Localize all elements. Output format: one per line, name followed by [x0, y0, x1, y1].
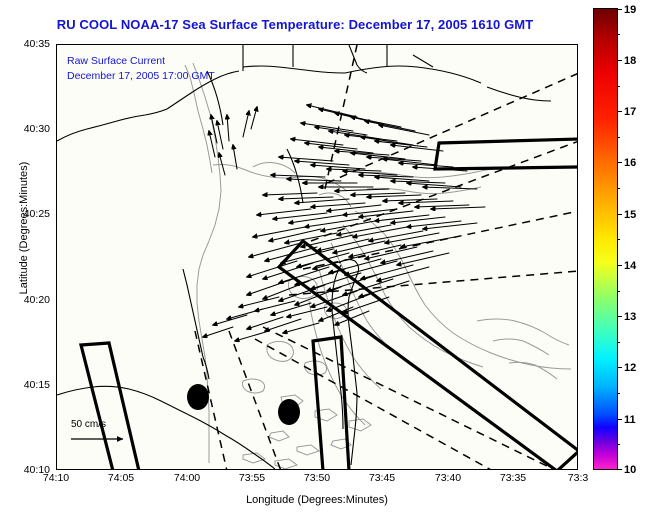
- colorbar-minor-tick: [617, 188, 620, 189]
- x-tick-label: 74:00: [174, 472, 200, 484]
- vector-scale-label: 50 cm/s: [67, 419, 137, 430]
- y-axis-label: Latitude (Degrees:Minutes): [18, 128, 30, 328]
- radar-coverage-wedges: [81, 139, 578, 470]
- colorbar-gradient: [594, 9, 617, 469]
- rightwards-arrow-icon: [67, 432, 137, 446]
- colorbar-minor-tick: [617, 239, 620, 240]
- x-tick-label: 73:55: [239, 472, 265, 484]
- vector-scale-legend: 50 cm/s: [67, 419, 137, 451]
- page-title: RU COOL NOAA-17 Sea Surface Temperature:…: [0, 17, 590, 32]
- site-marker-east: [278, 399, 300, 425]
- x-tick-label: 73:3: [568, 472, 588, 484]
- colorbar-tick-label: 14: [624, 260, 636, 272]
- y-tick-label: 40:30: [10, 123, 50, 135]
- colorbar-tick-label: 10: [624, 464, 636, 476]
- colorbar-minor-tick: [617, 137, 620, 138]
- colorbar-tick-label: 17: [624, 106, 636, 118]
- x-tick-label: 73:40: [435, 472, 461, 484]
- x-tick-label: 73:45: [369, 472, 395, 484]
- x-axis-label: Longitude (Degrees:Minutes): [56, 494, 578, 506]
- colorbar-minor-tick: [617, 342, 620, 343]
- colorbar-tick-label: 16: [624, 157, 636, 169]
- colorbar-tick: [617, 316, 622, 317]
- map-graphics: [57, 45, 578, 470]
- annotation-line-2: December 17, 2005 17:00 GMT: [67, 70, 215, 82]
- figure-canvas: RU COOL NOAA-17 Sea Surface Temperature:…: [0, 0, 651, 519]
- colorbar-tick-label: 13: [624, 311, 636, 323]
- colorbar-tick: [617, 111, 622, 112]
- x-tick-label: 73:35: [500, 472, 526, 484]
- colorbar-tick-label: 19: [624, 4, 636, 16]
- y-tick-label: 40:10: [10, 464, 50, 476]
- colorbar-tick: [617, 9, 622, 10]
- colorbar-tick: [617, 469, 622, 470]
- radar-site-markers: [187, 384, 300, 425]
- colorbar-tick: [617, 60, 622, 61]
- site-marker-west: [187, 384, 209, 410]
- annotation-line-1: Raw Surface Current: [67, 55, 165, 67]
- colorbar-minor-tick: [617, 34, 620, 35]
- colorbar-tick: [617, 265, 622, 266]
- y-tick-label: 40:35: [10, 38, 50, 50]
- colorbar-minor-tick: [617, 444, 620, 445]
- colorbar-tick-label: 15: [624, 209, 636, 221]
- colorbar-tick-label: 12: [624, 362, 636, 374]
- y-tick-label: 40:25: [10, 208, 50, 220]
- colorbar-tick: [617, 214, 622, 215]
- map-plot-area[interactable]: Raw Surface Current December 17, 2005 17…: [56, 44, 578, 470]
- colorbar-tick: [617, 367, 622, 368]
- colorbar-tick: [617, 419, 622, 420]
- y-tick-label: 40:15: [10, 379, 50, 391]
- colorbar-tick: [617, 162, 622, 163]
- y-tick-label: 40:20: [10, 294, 50, 306]
- colorbar-minor-tick: [617, 291, 620, 292]
- colorbar-minor-tick: [617, 86, 620, 87]
- colorbar: [593, 8, 618, 470]
- colorbar-minor-tick: [617, 393, 620, 394]
- colorbar-tick-label: 18: [624, 55, 636, 67]
- colorbar-tick-label: 11: [624, 414, 636, 426]
- x-tick-label: 74:05: [108, 472, 134, 484]
- x-tick-label: 73:50: [304, 472, 330, 484]
